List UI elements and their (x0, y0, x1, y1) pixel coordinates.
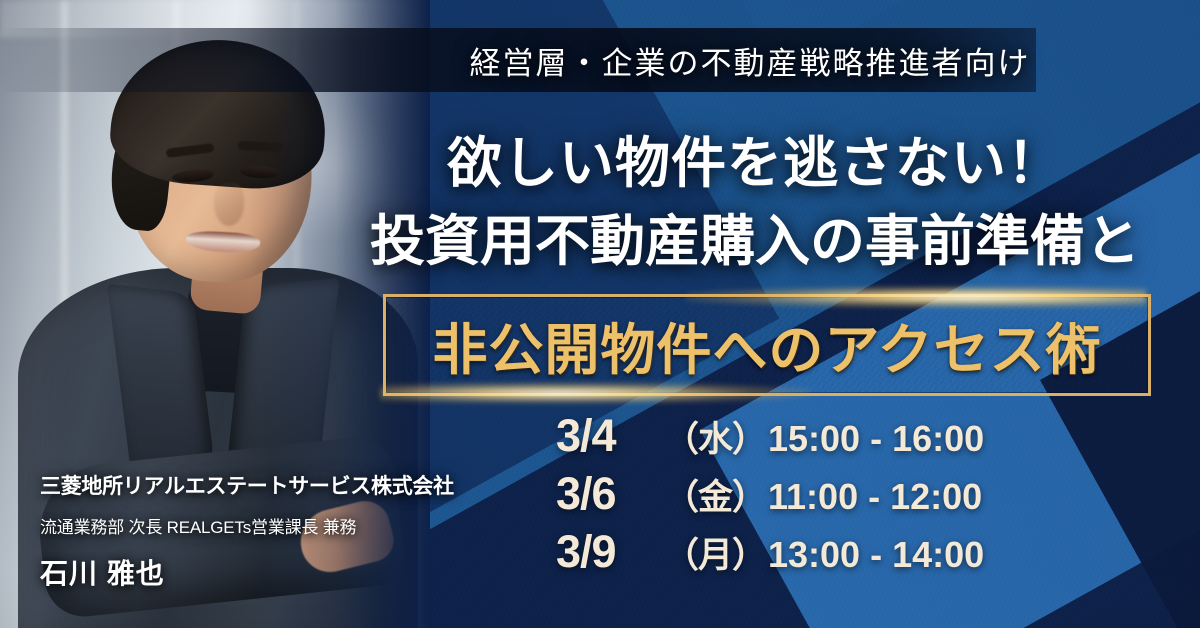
schedule-list: 3/4 （水） 15:00 - 16:00 3/6 （金） 11:00 - 12… (556, 410, 1076, 584)
speaker-nose (214, 182, 244, 226)
schedule-time: 15:00 - 16:00 (768, 418, 984, 460)
webinar-banner: 経営層・企業の不動産戦略推進者向け 欲しい物件を逃さない！ 投資用不動産購入の事… (0, 0, 1200, 628)
speaker-title: 流通業務部 次長 REALGETs営業課長 兼務 (40, 513, 440, 538)
highlight-box-text: 非公開物件へのアクセス術 (386, 297, 1148, 393)
kicker-text: 経営層・企業の不動産戦略推進者向け (430, 38, 1070, 83)
headline-line-1: 欲しい物件を逃さない！ (360, 118, 1150, 198)
schedule-row: 3/4 （水） 15:00 - 16:00 (556, 410, 1076, 464)
schedule-date: 3/4 (556, 410, 664, 462)
speaker-credits: 三菱地所リアルエステートサービス株式会社 流通業務部 次長 REALGETs営業… (40, 470, 440, 592)
headline-line-2: 投資用不動産購入の事前準備と (360, 196, 1150, 276)
schedule-time: 11:00 - 12:00 (768, 476, 982, 518)
schedule-day-of-week: （金） (664, 469, 768, 520)
schedule-row: 3/9 （月） 13:00 - 14:00 (556, 526, 1076, 580)
speaker-name: 石川 雅也 (40, 552, 440, 592)
schedule-row: 3/6 （金） 11:00 - 12:00 (556, 468, 1076, 522)
schedule-date: 3/9 (556, 526, 664, 578)
highlight-box: 非公開物件へのアクセス術 (383, 294, 1151, 396)
speaker-company: 三菱地所リアルエステートサービス株式会社 (40, 470, 440, 500)
schedule-day-of-week: （月） (664, 527, 768, 578)
schedule-time: 13:00 - 14:00 (768, 534, 984, 576)
schedule-day-of-week: （水） (664, 411, 768, 462)
schedule-date: 3/6 (556, 468, 664, 520)
